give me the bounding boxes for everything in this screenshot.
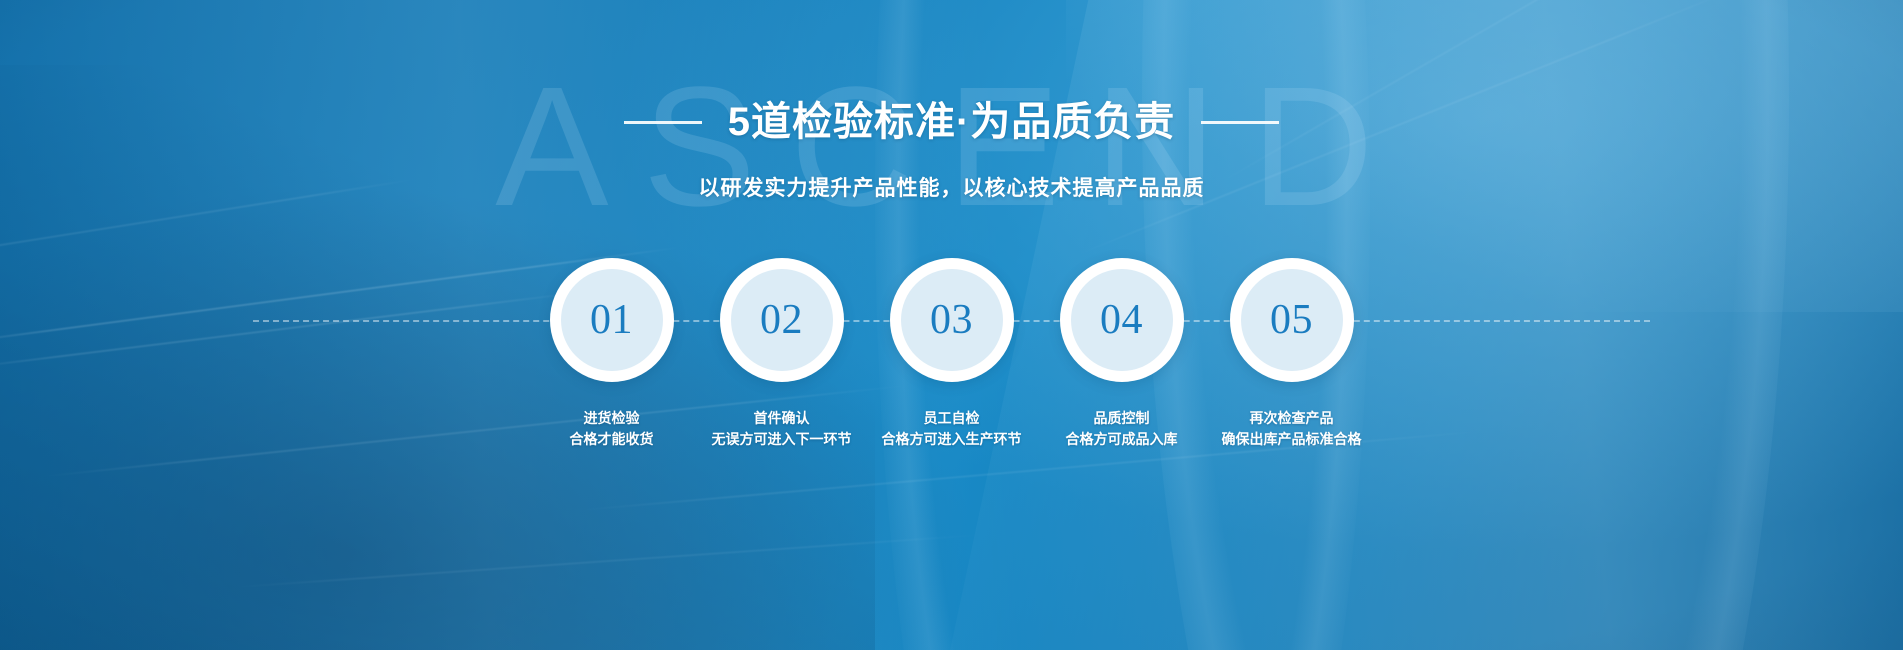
step-item-01[interactable]: 01 进货检验 合格才能收货 xyxy=(538,258,686,450)
step-caption-title-02: 首件确认 xyxy=(712,408,852,429)
title-row: 5道检验标准·为品质负责 xyxy=(0,98,1903,146)
page-title: 5道检验标准·为品质负责 xyxy=(728,98,1176,146)
step-circle-inner-05: 05 xyxy=(1241,269,1343,371)
step-circle-inner-04: 04 xyxy=(1071,269,1173,371)
step-caption-title-05: 再次检查产品 xyxy=(1222,408,1362,429)
step-caption-desc-05: 确保出库产品标准合格 xyxy=(1222,429,1362,450)
step-caption-03: 员工自检 合格方可进入生产环节 xyxy=(882,408,1022,450)
header-block: 5道检验标准·为品质负责 以研发实力提升产品性能，以核心技术提高产品品质 xyxy=(0,98,1903,202)
title-rule-right xyxy=(1201,121,1279,124)
page-subtitle: 以研发实力提升产品性能，以核心技术提高产品品质 xyxy=(0,172,1903,202)
step-caption-desc-02: 无误方可进入下一环节 xyxy=(712,429,852,450)
title-rule-left xyxy=(624,121,702,124)
steps-list: 01 进货检验 合格才能收货 02 首件确认 无误方可进入下一环节 xyxy=(0,258,1903,450)
step-circle-inner-01: 01 xyxy=(561,269,663,371)
quality-inspection-banner: ASCEND 5道检验标准·为品质负责 以研发实力提升产品性能，以核心技术提高产… xyxy=(0,0,1903,650)
step-caption-04: 品质控制 合格方可成品入库 xyxy=(1066,408,1178,450)
step-item-03[interactable]: 03 员工自检 合格方可进入生产环节 xyxy=(878,258,1026,450)
step-caption-title-04: 品质控制 xyxy=(1066,408,1178,429)
step-caption-05: 再次检查产品 确保出库产品标准合格 xyxy=(1222,408,1362,450)
step-caption-title-01: 进货检验 xyxy=(570,408,654,429)
step-caption-desc-04: 合格方可成品入库 xyxy=(1066,429,1178,450)
step-item-04[interactable]: 04 品质控制 合格方可成品入库 xyxy=(1048,258,1196,450)
step-circle-inner-02: 02 xyxy=(731,269,833,371)
step-number-01: 01 xyxy=(590,299,633,341)
step-number-05: 05 xyxy=(1270,299,1313,341)
step-item-05[interactable]: 05 再次检查产品 确保出库产品标准合格 xyxy=(1218,258,1366,450)
step-circle-04[interactable]: 04 xyxy=(1060,258,1184,382)
step-caption-02: 首件确认 无误方可进入下一环节 xyxy=(712,408,852,450)
step-item-02[interactable]: 02 首件确认 无误方可进入下一环节 xyxy=(708,258,856,450)
step-circle-02[interactable]: 02 xyxy=(720,258,844,382)
step-circle-01[interactable]: 01 xyxy=(550,258,674,382)
step-caption-title-03: 员工自检 xyxy=(882,408,1022,429)
steps-section: 01 进货检验 合格才能收货 02 首件确认 无误方可进入下一环节 xyxy=(0,258,1903,498)
step-caption-desc-03: 合格方可进入生产环节 xyxy=(882,429,1022,450)
step-circle-05[interactable]: 05 xyxy=(1230,258,1354,382)
step-number-04: 04 xyxy=(1100,299,1143,341)
step-circle-03[interactable]: 03 xyxy=(890,258,1014,382)
step-circle-inner-03: 03 xyxy=(901,269,1003,371)
step-caption-desc-01: 合格才能收货 xyxy=(570,429,654,450)
step-number-02: 02 xyxy=(760,299,803,341)
step-caption-01: 进货检验 合格才能收货 xyxy=(570,408,654,450)
step-number-03: 03 xyxy=(930,299,973,341)
